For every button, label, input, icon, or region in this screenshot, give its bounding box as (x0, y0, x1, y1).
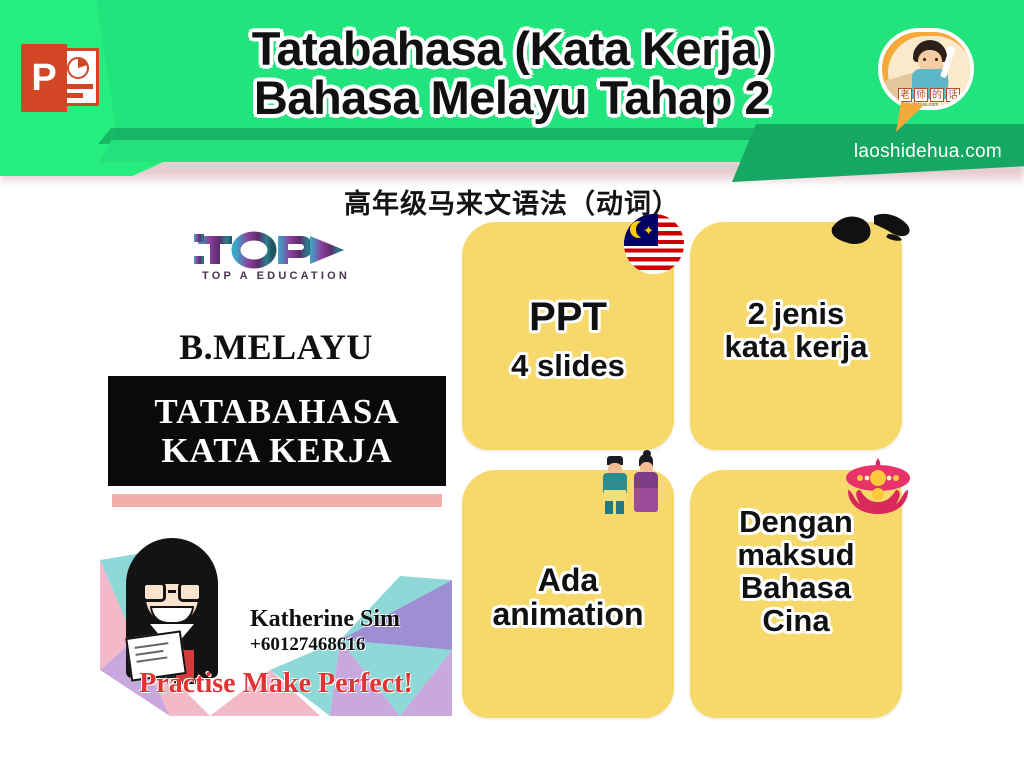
teacher-name: Katherine Sim (250, 606, 400, 633)
product-divider-bar (112, 494, 442, 507)
feature-card-label: Dengan maksud Bahasa Cina (690, 506, 902, 637)
product-topic-line2: KATA KERJA (161, 431, 392, 470)
feature-card-grid: ✦ PPT 4 slides 2 jenis kata kerja (462, 222, 936, 722)
feature-card-label: PPT (462, 296, 674, 338)
malay-couple-icon (602, 452, 664, 514)
product-preview-image: TOP A EDUCATION B.MELAYU TATABAHASA KATA… (100, 228, 452, 716)
glasses-icon (142, 582, 202, 602)
malaysia-map-icon (828, 210, 914, 256)
feature-card-ppt-slides[interactable]: ✦ PPT 4 slides (462, 222, 674, 450)
teacher-avatar (122, 538, 222, 688)
product-topic-box: TATABAHASA KATA KERJA (108, 376, 446, 486)
malay-man-figure (602, 456, 628, 514)
page-title: Tatabahasa (Kata Kerja) Bahasa Melayu Ta… (0, 24, 1024, 123)
topa-tagline: TOP A EDUCATION (100, 270, 452, 282)
product-slogan: Practise Make Perfect! (100, 668, 452, 700)
topa-logo-mark (192, 230, 372, 270)
feature-card-chinese-meaning[interactable]: Dengan maksud Bahasa Cina (690, 470, 902, 718)
product-subject: B.MELAYU (100, 326, 452, 368)
website-url: laoshidehua.com (854, 141, 1002, 163)
topa-education-logo: TOP A EDUCATION (100, 228, 452, 290)
product-footer-panel: Katherine Sim +60127468616 Practise Make… (100, 520, 452, 716)
teacher-phone: +60127468616 (250, 634, 365, 656)
feature-card-animation[interactable]: Ada animation (462, 470, 674, 718)
malay-woman-figure (632, 454, 660, 514)
slide-canvas: laoshidehua.com P (0, 0, 1024, 768)
feature-card-sublabel: 4 slides (462, 348, 674, 384)
malaysia-flag-icon: ✦ (624, 214, 684, 274)
feature-card-label: Ada animation (462, 564, 674, 632)
feature-card-verb-types[interactable]: 2 jenis kata kerja (690, 222, 902, 450)
feature-card-label: 2 jenis kata kerja (690, 298, 902, 364)
product-topic-line1: TATABAHASA (154, 392, 399, 431)
header-banner: laoshidehua.com P (0, 0, 1024, 200)
